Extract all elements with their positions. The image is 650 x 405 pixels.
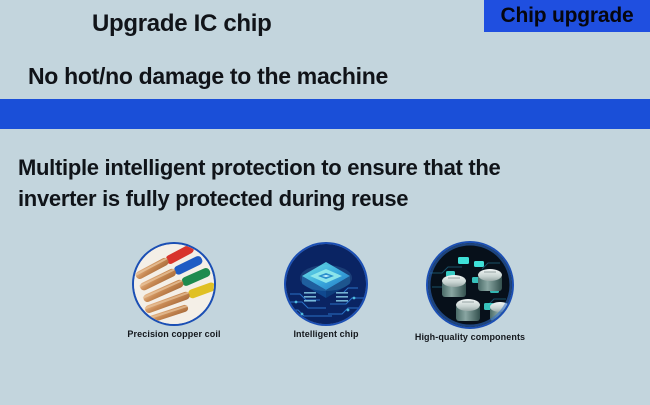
feature-list: Precision copper coil bbox=[0, 240, 650, 350]
feature-item-intelligent-chip: Intelligent chip bbox=[251, 244, 401, 339]
promo-slide: Chip upgrade Upgrade IC chip No hot/no d… bbox=[0, 0, 650, 405]
body-paragraph: Multiple intelligent protection to ensur… bbox=[18, 152, 626, 214]
copper-coil-svg bbox=[134, 244, 214, 324]
page-subtitle: No hot/no damage to the machine bbox=[28, 63, 388, 90]
capacitors-photo-icon bbox=[428, 243, 512, 327]
microchip-photo-icon bbox=[286, 244, 366, 324]
chip-upgrade-badge-label: Chip upgrade bbox=[501, 4, 634, 28]
body-paragraph-line-2: inverter is fully protected during reuse bbox=[18, 183, 626, 214]
intelligent-chip-image-wrapper bbox=[286, 244, 366, 324]
feature-item-high-quality-components: High-quality components bbox=[395, 243, 545, 342]
body-paragraph-line-1: Multiple intelligent protection to ensur… bbox=[18, 152, 626, 183]
components-image-wrapper bbox=[428, 243, 512, 327]
capacitors-svg bbox=[428, 243, 512, 327]
copper-coil-photo-icon bbox=[134, 244, 214, 324]
chip-upgrade-badge: Chip upgrade bbox=[484, 0, 650, 32]
feature-item-copper-coil: Precision copper coil bbox=[99, 244, 249, 339]
page-title: Upgrade IC chip bbox=[92, 10, 272, 38]
blue-divider-band bbox=[0, 99, 650, 129]
copper-coil-image-wrapper bbox=[134, 244, 214, 324]
feature-caption-intelligent-chip: Intelligent chip bbox=[251, 329, 401, 339]
feature-caption-copper-coil: Precision copper coil bbox=[99, 329, 249, 339]
feature-caption-high-quality-components: High-quality components bbox=[395, 332, 545, 342]
microchip-svg bbox=[286, 244, 366, 324]
